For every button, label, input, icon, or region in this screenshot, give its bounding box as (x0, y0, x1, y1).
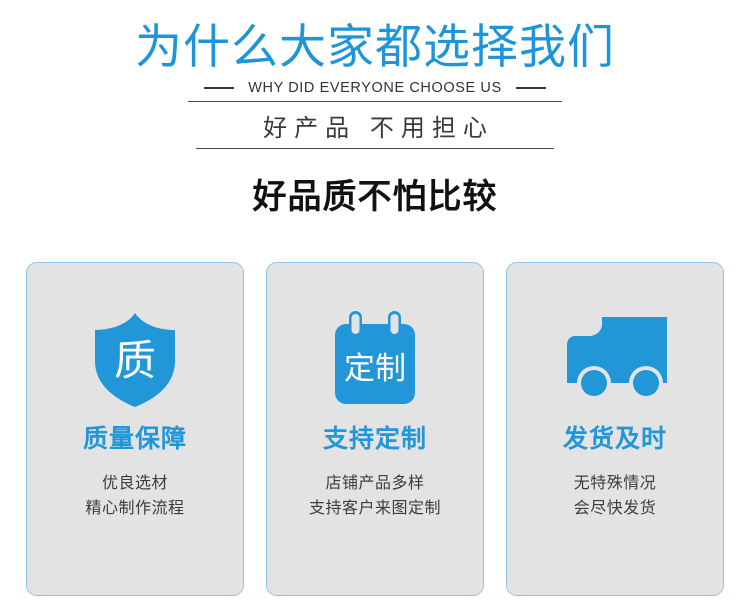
feature-desc-line-2: 支持客户来图定制 (309, 497, 441, 522)
feature-card-shipping: 发货及时 无特殊情况 会尽快发货 (506, 262, 724, 596)
header-section: 为什么大家都选择我们 WHY DID EVERYONE CHOOSE US 好产… (0, 0, 750, 218)
subtitle-english: WHY DID EVERYONE CHOOSE US (248, 80, 502, 96)
subtitle-row: WHY DID EVERYONE CHOOSE US (0, 80, 750, 96)
feature-card-description: 店铺产品多样 支持客户来图定制 (309, 472, 441, 522)
feature-card-customization: 定制 支持定制 店铺产品多样 支持客户来图定制 (266, 262, 484, 596)
slogan-text: 好产品 不用担心 (0, 108, 750, 143)
feature-desc-line-2: 会尽快发货 (574, 497, 657, 522)
promo-banner: 为什么大家都选择我们 WHY DID EVERYONE CHOOSE US 好产… (0, 0, 750, 616)
headline-text: 好品质不怕比较 (0, 169, 750, 218)
feature-card-title: 支持定制 (323, 419, 427, 455)
divider-top (188, 101, 562, 102)
calendar-icon-label: 定制 (344, 351, 406, 386)
feature-desc-line-1: 无特殊情况 (574, 472, 657, 497)
feature-card-quality: 质 质量保障 优良选材 精心制作流程 (26, 262, 244, 596)
feature-desc-line-2: 精心制作流程 (85, 497, 184, 522)
page-title: 为什么大家都选择我们 (0, 22, 750, 73)
divider-bottom (196, 148, 554, 149)
truck-icon (555, 307, 675, 411)
calendar-icon: 定制 (327, 307, 423, 411)
feature-card-description: 无特殊情况 会尽快发货 (574, 472, 657, 522)
shield-icon-label: 质 (114, 337, 156, 384)
feature-card-title: 质量保障 (83, 419, 187, 455)
shield-icon: 质 (89, 307, 181, 411)
feature-card-list: 质 质量保障 优良选材 精心制作流程 定制 支持定制 (0, 262, 750, 596)
decorative-dash-left (204, 87, 234, 89)
feature-card-description: 优良选材 精心制作流程 (85, 472, 184, 522)
feature-card-title: 发货及时 (563, 419, 667, 455)
feature-desc-line-1: 优良选材 (85, 472, 184, 497)
feature-desc-line-1: 店铺产品多样 (309, 472, 441, 497)
decorative-dash-right (516, 87, 546, 89)
